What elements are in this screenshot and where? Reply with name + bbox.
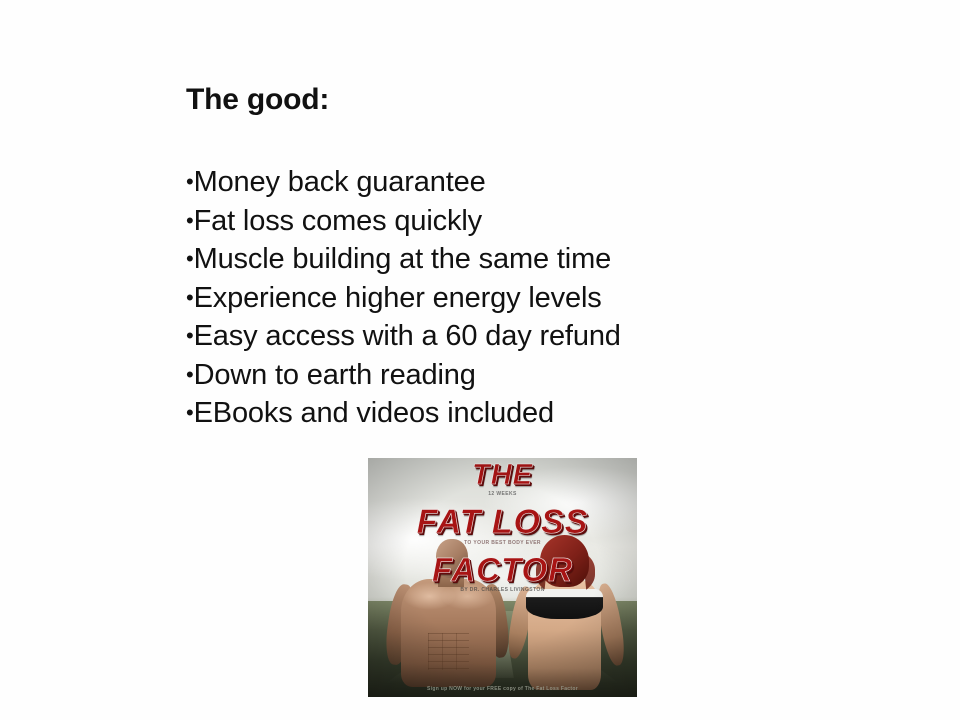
list-item: •Experience higher energy levels <box>186 279 621 318</box>
list-item-label: EBooks and videos included <box>194 397 554 429</box>
bullet-icon: • <box>186 317 194 356</box>
list-item: •Easy access with a 60 day refund <box>186 317 621 356</box>
cover-title-line1: THE <box>368 461 637 490</box>
list-item: •Muscle building at the same time <box>186 240 621 279</box>
list-item-label: Easy access with a 60 day refund <box>194 320 621 352</box>
cover-subtitle-line2: TO YOUR BEST BODY EVER <box>368 541 637 546</box>
bullet-icon: • <box>186 394 194 433</box>
list-item: •Fat loss comes quickly <box>186 202 621 241</box>
cover-title-block: THE 12 WEEKS FAT LOSS TO YOUR BEST BODY … <box>368 461 637 593</box>
list-item: •Money back guarantee <box>186 163 621 202</box>
bullet-icon: • <box>186 163 194 202</box>
page-title: The good: <box>186 83 329 117</box>
list-item: •EBooks and videos included <box>186 394 621 433</box>
bullet-icon: • <box>186 202 194 241</box>
bullet-icon: • <box>186 356 194 395</box>
female-sports-bra <box>526 589 604 620</box>
bullet-icon: • <box>186 240 194 279</box>
list-item: •Down to earth reading <box>186 356 621 395</box>
male-torso <box>401 579 496 687</box>
list-item-label: Fat loss comes quickly <box>194 205 482 237</box>
bullet-icon: • <box>186 279 194 318</box>
cover-footer-text: Sign up NOW for your FREE copy of The Fa… <box>368 686 637 692</box>
cover-title-line2: FAT LOSS <box>368 505 637 539</box>
slide-canvas: The good: •Money back guarantee •Fat los… <box>0 0 960 720</box>
cover-title-line3: FACTOR <box>368 553 637 586</box>
cover-subtitle-line1: 12 WEEKS <box>368 492 637 497</box>
cover-subtitle-line3: BY DR. CHARLES LIVINGSTON <box>368 588 637 593</box>
product-cover-image: THE 12 WEEKS FAT LOSS TO YOUR BEST BODY … <box>368 458 637 697</box>
benefits-bullet-list: •Money back guarantee •Fat loss comes qu… <box>186 163 621 433</box>
male-abs <box>428 633 470 670</box>
list-item-label: Muscle building at the same time <box>194 243 612 275</box>
list-item-label: Down to earth reading <box>194 359 476 391</box>
list-item-label: Experience higher energy levels <box>194 282 602 314</box>
list-item-label: Money back guarantee <box>194 166 486 198</box>
